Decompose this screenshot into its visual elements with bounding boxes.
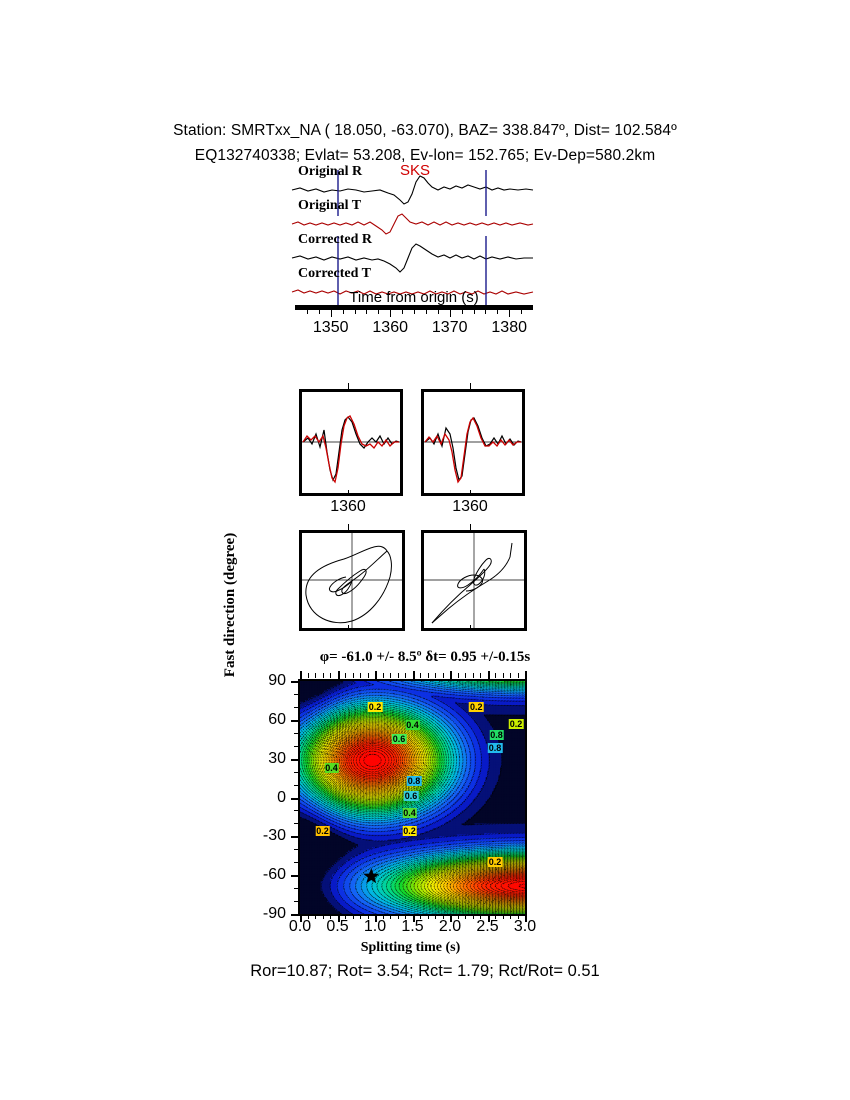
contour-label-8: 0.8 (407, 776, 422, 786)
mbox1-tick-label: 1360 (330, 498, 366, 516)
x-minor-tick (398, 914, 399, 919)
contour-label-1: 0.2 (469, 702, 484, 712)
time-tick-1380: 1380 (491, 319, 527, 337)
x-tick-mark-top (413, 671, 415, 679)
x-minor-tick (405, 914, 406, 919)
trace-label-original-r: Original R (298, 164, 362, 180)
y-tick-label-0: 0 (244, 789, 286, 807)
trace-label-original-t: Original T (298, 198, 361, 214)
y-minor-tick (294, 707, 298, 708)
x-minor-tick (315, 914, 316, 919)
x-minor-tick-top (390, 673, 391, 678)
y-tick-label-60: 60 (244, 711, 286, 729)
x-tick-label-0.5: 0.5 (326, 918, 348, 936)
fast-slow-box-uncorrected (299, 389, 403, 496)
contour-label-3: 0.6 (392, 734, 407, 744)
x-tick-mark-top (525, 671, 527, 679)
x-minor-tick (428, 914, 429, 919)
x-minor-tick (360, 914, 361, 919)
x-minor-tick (458, 914, 459, 919)
x-minor-tick-top (353, 673, 354, 678)
y-tick-label--60: -60 (244, 866, 286, 884)
pbox1-tick-bottom (348, 625, 349, 631)
y-minor-tick (294, 888, 298, 889)
contour-label-9: 0.6 (404, 791, 419, 801)
x-minor-tick (495, 914, 496, 919)
figure-header: Station: SMRTxx_NA ( 18.050, -63.070), B… (0, 118, 850, 168)
mbox1-tick-top (348, 383, 349, 389)
x-minor-tick (435, 914, 436, 919)
x-minor-tick (308, 914, 309, 919)
y-tick-mark--30 (291, 836, 298, 838)
x-minor-tick (353, 914, 354, 919)
x-minor-tick-top (420, 673, 421, 678)
y-tick-mark-30 (291, 759, 298, 761)
y-tick-label--90: -90 (244, 905, 286, 923)
contour-label-12: 0.2 (315, 826, 330, 836)
y-tick-mark-0 (291, 798, 298, 800)
contour-label-2: 0.4 (405, 720, 420, 730)
contour-label-6: 0.8 (488, 743, 503, 753)
x-tick-mark-top (338, 671, 340, 679)
pbox2-tick-top (470, 524, 471, 530)
x-tick-mark-top (375, 671, 377, 679)
particle-motion-uncorrected (299, 530, 405, 631)
y-minor-tick (294, 810, 298, 811)
trace-original-t (292, 214, 533, 234)
y-tick-label-90: 90 (244, 672, 286, 690)
contour-label-11: 0.2 (402, 826, 417, 836)
x-minor-tick-top (428, 673, 429, 678)
x-minor-tick (503, 914, 504, 919)
y-minor-tick (294, 823, 298, 824)
time-axis-ticks (290, 310, 538, 317)
y-tick-mark-90 (291, 681, 298, 683)
x-minor-tick-top (503, 673, 504, 678)
x-minor-tick-top (398, 673, 399, 678)
mbox1-tick-bottom (348, 490, 349, 496)
x-tick-label-2.5: 2.5 (476, 918, 498, 936)
time-tick-1360: 1360 (372, 319, 408, 337)
splitting-error-contour-plot[interactable]: 0.20.20.40.60.20.80.80.40.80.60.40.20.20… (298, 679, 527, 916)
x-tick-mark-top (450, 671, 452, 679)
contour-label-4: 0.2 (509, 719, 524, 729)
x-minor-tick-top (443, 673, 444, 678)
contour-label-10: 0.4 (402, 808, 417, 818)
y-tick-mark--60 (291, 875, 298, 877)
x-minor-tick-top (360, 673, 361, 678)
particle-motion-corrected (421, 530, 527, 631)
x-tick-mark-top (488, 671, 490, 679)
time-axis: Time from origin (s) 1350136013701380 (290, 305, 538, 317)
quality-statistics: Ror=10.87; Rot= 3.54; Rct= 1.79; Rct/Rot… (0, 962, 850, 981)
x-minor-tick (510, 914, 511, 919)
x-minor-tick-top (368, 673, 369, 678)
x-minor-tick (390, 914, 391, 919)
x-tick-label-1.0: 1.0 (364, 918, 386, 936)
contour-label-5: 0.8 (489, 730, 504, 740)
x-minor-tick-top (315, 673, 316, 678)
x-tick-mark-top (300, 671, 302, 679)
x-tick-label-3.0: 3.0 (514, 918, 536, 936)
time-tick-1350: 1350 (313, 319, 349, 337)
x-minor-tick (345, 914, 346, 919)
time-tick-1370: 1370 (432, 319, 468, 337)
y-minor-tick (294, 785, 298, 786)
sks-phase-label: SKS (400, 162, 430, 179)
x-minor-tick (368, 914, 369, 919)
x-minor-tick-top (345, 673, 346, 678)
x-minor-tick (518, 914, 519, 919)
pbox2-tick-bottom (470, 625, 471, 631)
y-minor-tick (294, 733, 298, 734)
x-minor-tick (473, 914, 474, 919)
contour-label-0: 0.2 (368, 702, 383, 712)
x-minor-tick (480, 914, 481, 919)
mbox2-tick-label: 1360 (452, 498, 488, 516)
waveform-panel: SKS Original R Original T Corrected R Co… (290, 168, 535, 308)
splitting-parameters-text: φ= -61.0 +/- 8.5º δt= 0.95 +/-0.15s (320, 649, 530, 665)
x-minor-tick-top (495, 673, 496, 678)
y-minor-tick (294, 901, 298, 902)
x-minor-tick (443, 914, 444, 919)
contour-plot-title: φ= -61.0 +/- 8.5º δt= 0.95 +/-0.15s (0, 649, 850, 666)
y-minor-tick (294, 862, 298, 863)
x-minor-tick-top (510, 673, 511, 678)
y-minor-tick (294, 772, 298, 773)
x-minor-tick-top (383, 673, 384, 678)
x-minor-tick-top (323, 673, 324, 678)
contour-label-7: 0.4 (324, 763, 339, 773)
x-tick-label-2.0: 2.0 (439, 918, 461, 936)
x-tick-label-1.5: 1.5 (401, 918, 423, 936)
time-axis-label: Time from origin (s) (290, 289, 538, 306)
y-tick-mark--90 (291, 914, 298, 916)
contour-label-13: 0.2 (488, 857, 503, 867)
y-tick-label-30: 30 (244, 750, 286, 768)
x-minor-tick-top (435, 673, 436, 678)
contour-y-axis-title: Fast direction (degree) (222, 510, 239, 700)
x-minor-tick (465, 914, 466, 919)
y-tick-mark-60 (291, 720, 298, 722)
x-minor-tick (330, 914, 331, 919)
y-minor-tick (294, 694, 298, 695)
x-minor-tick (323, 914, 324, 919)
x-minor-tick-top (473, 673, 474, 678)
mbox2-tick-top (470, 383, 471, 389)
x-minor-tick-top (458, 673, 459, 678)
x-minor-tick (420, 914, 421, 919)
y-minor-tick (294, 746, 298, 747)
y-tick-label--30: -30 (244, 827, 286, 845)
trace-label-corrected-r: Corrected R (298, 232, 372, 248)
fast-slow-box-corrected (421, 389, 525, 496)
x-minor-tick (383, 914, 384, 919)
x-minor-tick-top (480, 673, 481, 678)
contour-x-axis-title: Splitting time (s) (298, 940, 523, 956)
x-minor-tick-top (518, 673, 519, 678)
x-minor-tick-top (330, 673, 331, 678)
mbox2-tick-bottom (470, 490, 471, 496)
trace-label-corrected-t: Corrected T (298, 266, 371, 282)
x-minor-tick-top (308, 673, 309, 678)
pbox1-tick-top (348, 524, 349, 530)
x-tick-label-0.0: 0.0 (289, 918, 311, 936)
station-info-line: Station: SMRTxx_NA ( 18.050, -63.070), B… (0, 118, 850, 143)
x-minor-tick-top (405, 673, 406, 678)
y-minor-tick (294, 849, 298, 850)
x-minor-tick-top (465, 673, 466, 678)
